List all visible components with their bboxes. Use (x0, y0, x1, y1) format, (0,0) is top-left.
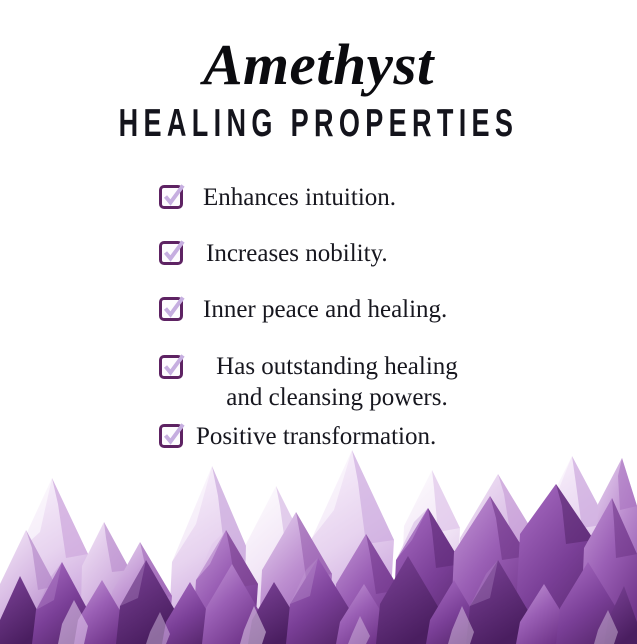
amethyst-healing-properties-poster: Amethyst HEALING PROPERTIES Enhances int… (0, 0, 637, 644)
poster-header: Amethyst HEALING PROPERTIES (0, 34, 637, 138)
checkbox-checked-icon[interactable] (159, 241, 183, 265)
checkbox-checked-icon[interactable] (159, 297, 183, 321)
checkmark-icon (161, 294, 187, 321)
checkmark-icon (161, 352, 187, 379)
crystal-cluster-graphic (0, 434, 637, 644)
checkmark-icon (161, 182, 187, 209)
list-item-label: Enhances intuition. (203, 183, 396, 212)
page-title: Amethyst (0, 34, 637, 96)
checkmark-icon (161, 238, 187, 265)
list-item-label: Increases nobility. (206, 239, 388, 268)
amethyst-crystal-cluster-image (0, 434, 637, 644)
page-subtitle: HEALING PROPERTIES (57, 102, 579, 144)
list-item-label: Has outstanding healingand cleansing pow… (192, 351, 482, 413)
checkbox-checked-icon[interactable] (159, 355, 183, 379)
checkbox-checked-icon[interactable] (159, 185, 183, 209)
list-item-label: Inner peace and healing. (203, 295, 447, 324)
